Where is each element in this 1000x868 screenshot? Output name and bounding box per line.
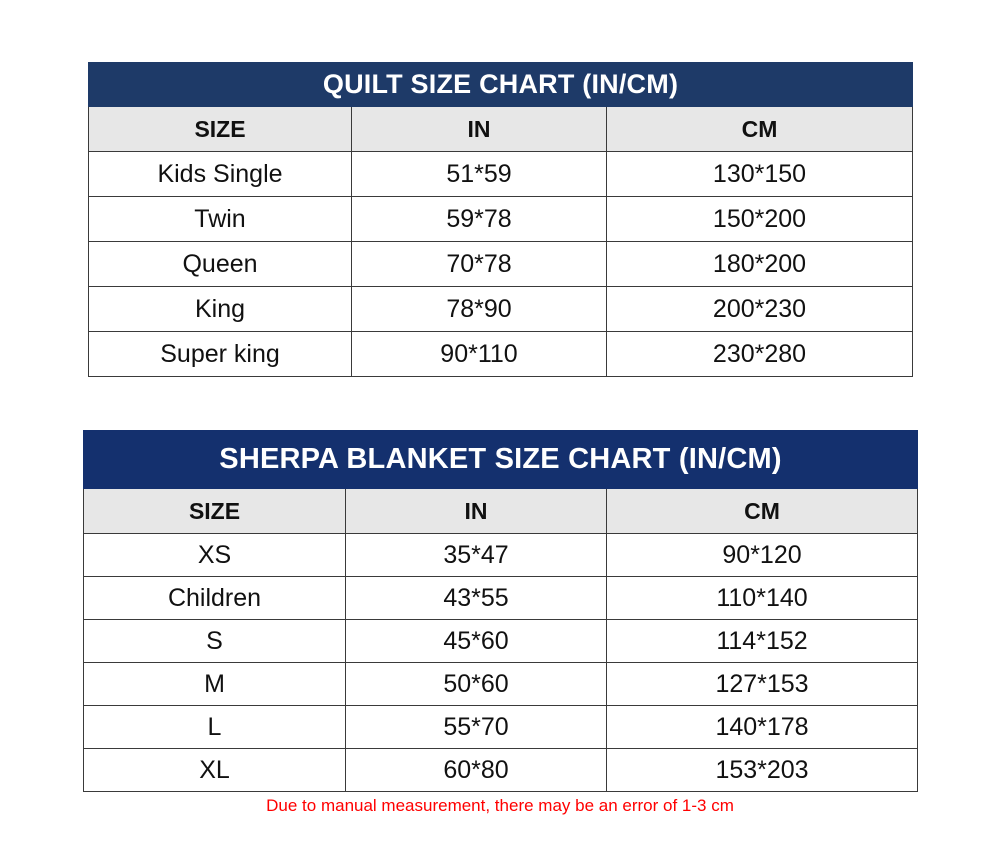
sherpa-row-0-size: XS: [84, 534, 346, 577]
sherpa-row-4-size: L: [84, 706, 346, 749]
sherpa-row-5-cm: 153*203: [607, 749, 918, 792]
quilt-chart-title: QUILT SIZE CHART (IN/CM): [89, 63, 913, 107]
table-row: Children 43*55 110*140: [84, 577, 918, 620]
sherpa-row-0-cm: 90*120: [607, 534, 918, 577]
sherpa-row-4-cm: 140*178: [607, 706, 918, 749]
quilt-row-4-size: Super king: [89, 332, 352, 377]
table-row: XS 35*47 90*120: [84, 534, 918, 577]
sherpa-row-3-in: 50*60: [346, 663, 607, 706]
table-row: XL 60*80 153*203: [84, 749, 918, 792]
table-row: L 55*70 140*178: [84, 706, 918, 749]
sherpa-row-4-in: 55*70: [346, 706, 607, 749]
quilt-row-1-cm: 150*200: [607, 197, 913, 242]
sherpa-column-header-cm: CM: [607, 489, 918, 534]
quilt-column-header-size: SIZE: [89, 107, 352, 152]
sherpa-row-5-in: 60*80: [346, 749, 607, 792]
quilt-row-3-cm: 200*230: [607, 287, 913, 332]
sherpa-row-1-size: Children: [84, 577, 346, 620]
sherpa-row-1-in: 43*55: [346, 577, 607, 620]
sherpa-title-row: SHERPA BLANKET SIZE CHART (IN/CM): [84, 431, 918, 489]
quilt-size-table: QUILT SIZE CHART (IN/CM) SIZE IN CM Kids…: [88, 62, 913, 377]
sherpa-chart-title: SHERPA BLANKET SIZE CHART (IN/CM): [84, 431, 918, 489]
quilt-row-4-in: 90*110: [352, 332, 607, 377]
table-row: M 50*60 127*153: [84, 663, 918, 706]
sherpa-size-table: SHERPA BLANKET SIZE CHART (IN/CM) SIZE I…: [83, 430, 918, 792]
quilt-column-header-cm: CM: [607, 107, 913, 152]
measurement-disclaimer-note: Due to manual measurement, there may be …: [0, 796, 1000, 816]
sherpa-row-1-cm: 110*140: [607, 577, 918, 620]
sherpa-blanket-size-chart: SHERPA BLANKET SIZE CHART (IN/CM) SIZE I…: [83, 430, 917, 792]
quilt-row-0-cm: 130*150: [607, 152, 913, 197]
table-row: Super king 90*110 230*280: [89, 332, 913, 377]
quilt-title-row: QUILT SIZE CHART (IN/CM): [89, 63, 913, 107]
quilt-row-3-in: 78*90: [352, 287, 607, 332]
sherpa-row-2-in: 45*60: [346, 620, 607, 663]
table-row: King 78*90 200*230: [89, 287, 913, 332]
quilt-row-2-cm: 180*200: [607, 242, 913, 287]
sherpa-column-header-size: SIZE: [84, 489, 346, 534]
sherpa-row-3-size: M: [84, 663, 346, 706]
quilt-column-header-in: IN: [352, 107, 607, 152]
quilt-row-2-in: 70*78: [352, 242, 607, 287]
sherpa-row-0-in: 35*47: [346, 534, 607, 577]
sherpa-column-header-row: SIZE IN CM: [84, 489, 918, 534]
sherpa-row-3-cm: 127*153: [607, 663, 918, 706]
quilt-row-0-in: 51*59: [352, 152, 607, 197]
sherpa-row-2-size: S: [84, 620, 346, 663]
sherpa-row-5-size: XL: [84, 749, 346, 792]
table-row: Kids Single 51*59 130*150: [89, 152, 913, 197]
quilt-row-0-size: Kids Single: [89, 152, 352, 197]
quilt-row-2-size: Queen: [89, 242, 352, 287]
sherpa-column-header-in: IN: [346, 489, 607, 534]
quilt-row-3-size: King: [89, 287, 352, 332]
table-row: Queen 70*78 180*200: [89, 242, 913, 287]
quilt-row-4-cm: 230*280: [607, 332, 913, 377]
table-row: Twin 59*78 150*200: [89, 197, 913, 242]
sherpa-row-2-cm: 114*152: [607, 620, 918, 663]
quilt-row-1-in: 59*78: [352, 197, 607, 242]
quilt-size-chart: QUILT SIZE CHART (IN/CM) SIZE IN CM Kids…: [88, 62, 912, 377]
quilt-column-header-row: SIZE IN CM: [89, 107, 913, 152]
quilt-row-1-size: Twin: [89, 197, 352, 242]
table-row: S 45*60 114*152: [84, 620, 918, 663]
